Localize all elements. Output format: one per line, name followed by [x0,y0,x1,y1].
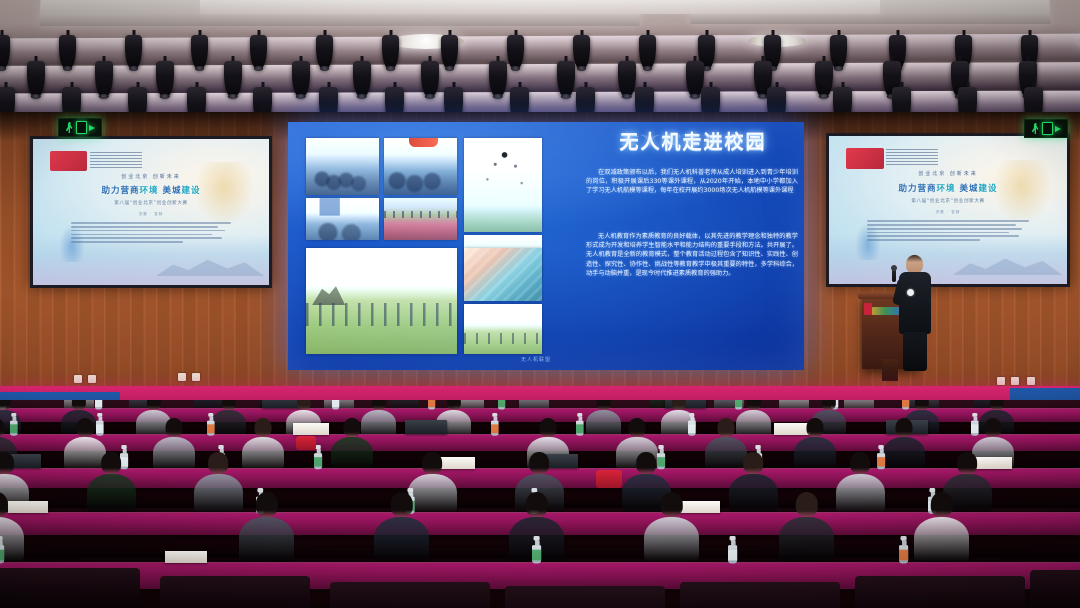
audience-member [729,452,778,513]
light-lens [129,66,139,71]
audience-shoulders [194,474,243,513]
light-lens [386,66,396,71]
audience-head [526,492,548,517]
bottle-label [0,550,4,561]
stage-light-fixture [250,30,267,70]
audience-head [661,492,683,517]
audience-head [71,400,85,410]
audience-head [958,452,978,474]
photo-classroom-screen [306,198,379,240]
right-projection-screen[interactable]: 创业北京 创新未来 助力营商环境 美城建设 第八届“创业北京”创业创新大赛 决赛… [826,133,1070,287]
bottle-cap [689,413,694,417]
audience-member [914,492,969,562]
audience-head [989,400,1003,410]
stage-light-fixture [0,30,10,70]
audience-shoulders [153,437,195,471]
audience-head [796,492,818,517]
running-person-icon [66,122,74,133]
stage-light-fixture [421,56,439,98]
slide-paragraph-1: 在双减政策颁布以后，我们无人机科普老师从成人培训进入到青少年培训的岗位，积极开展… [586,168,798,196]
stage-light-fixture [95,56,113,98]
audience-shoulders [836,474,885,513]
slide-title-reflection: 无人机走进校园 [588,132,798,148]
slide-line-1-right: 创业北京 创新未来 [829,170,1067,177]
stage-light-fixture [292,56,310,98]
light-head [27,61,45,97]
light-head [382,35,399,69]
bottle-label [428,400,435,407]
slide-line-2-prefix-left: 助力营商 [101,186,139,196]
stage-light-fixture [191,30,208,70]
stage-light-fixture [316,30,333,70]
light-head [815,61,833,97]
audience-head [446,400,460,410]
audience-shoulders [239,517,294,562]
audience-member [836,452,885,513]
bottle-cap [11,413,16,417]
bottle-neck [209,416,213,420]
exit-sign-left [58,118,102,137]
exit-sign-right [1024,119,1068,138]
slide-line-4-left: 决赛 · 答辩 [33,212,269,217]
light-lens [577,66,587,71]
stage-light-fixture [489,56,507,98]
slide-logo-text-left [90,152,142,168]
light-head [353,61,371,97]
bottle-cap [97,413,102,417]
light-lens [320,66,330,71]
door-icon [1042,122,1053,135]
light-head [557,61,575,97]
audience-head [255,418,272,437]
audience-shoulders [779,517,834,562]
wall-switch-7 [1027,377,1035,385]
audience-head [0,400,11,410]
slide-paragraph-2: 无人机教育作为素质教育的良好载体，以其先进的教学理念和独特的教学形式成为开发和培… [586,232,798,278]
slide-line-3-right: 第八届“创业北京”创业创新大赛 [829,198,1067,204]
bottle-cap [209,413,214,417]
audience-member [331,418,373,471]
audience-member [883,418,925,471]
light-head [125,35,142,69]
audience-head [530,452,550,474]
bottle-label [332,400,339,407]
audience-head [851,452,871,474]
bottle-label [532,550,541,561]
light-head [639,35,656,69]
empty-seat-back [160,576,310,608]
audience-head [629,418,646,437]
light-head [156,61,174,97]
audience-head [718,418,735,437]
audience-shoulders [794,437,836,471]
wall-switch-4 [192,373,200,381]
slide-logo-text-right [886,149,938,165]
bottle-neck [690,416,694,420]
seated-audience [0,400,1080,608]
audience-head [746,400,760,410]
audience-head [0,492,8,517]
left-slide: 创业北京 创新未来 助力营商环境 美城建设 第八届“创业北京”创业创新大赛 决赛… [33,139,269,285]
audience-member [194,452,243,513]
empty-seat-back [680,582,840,608]
audience-head [296,400,310,410]
audience-member [779,492,834,562]
stage-light-fixture [382,30,399,70]
slide-line-2-emphasis-left: 环境 [140,186,159,196]
light-lens [511,66,521,71]
audience-member [153,418,195,471]
audience-head [77,418,94,437]
light-head [95,61,113,97]
stage-light-fixture [441,30,458,70]
stage-light-fixture [156,56,174,98]
light-lens [445,66,455,71]
podium-logo-icon [864,303,872,315]
bottle-label [207,424,215,433]
slide-line-1-left: 创业北京 创新未来 [33,173,269,180]
audience-head [371,400,385,410]
light-head [618,61,636,97]
light-head [59,35,76,69]
wall-switch-5 [997,377,1005,385]
light-head [421,61,439,97]
red-bag [296,436,316,450]
photo-hands-assembly [464,248,542,301]
audience-head [637,452,657,474]
light-head [0,35,10,69]
light-lens [254,66,264,71]
stage-light-fixture [27,56,45,98]
empty-seat-back [505,586,665,608]
photo-drone-flight [464,138,542,232]
audience-head [221,400,235,410]
wall-switch-2 [88,375,96,383]
audience-shoulders [331,437,373,471]
audience-shoulders [644,517,699,562]
audience-member [374,492,429,562]
audience-head [540,418,557,437]
wall-switch-1 [74,375,82,383]
photo-large-field [306,248,457,354]
stage-light-fixture [639,30,656,70]
photo-field-activity [464,304,542,354]
bottle-cap [973,413,978,417]
photo-ceremony-banner [384,138,457,195]
audience-member [794,418,836,471]
slide-line-2-middle-left: 美城 [159,186,182,196]
right-slide: 创业北京 创新未来 助力营商环境 美城建设 第八届“创业北京”创业创新大赛 决赛… [829,136,1067,284]
slide-line-3-left: 第八届“创业北京”创业创新大赛 [33,200,269,206]
photo-classroom-students [306,138,379,195]
slide-line-2-prefix-right: 助力营商 [898,184,936,194]
audience-head [807,418,824,437]
audience-member [644,492,699,562]
presenter-legs [903,332,927,371]
audience-shoulders [87,474,136,513]
light-head [573,35,590,69]
audience-head [821,400,835,410]
light-head [191,35,208,69]
stage-light-fixture [353,56,371,98]
light-lens [643,66,653,71]
stage-light-fixture [59,30,76,70]
bottle-label [491,424,499,433]
stage-light-fixture [125,30,142,70]
stage-light-fixture [573,30,590,70]
left-projection-screen[interactable]: 创业北京 创新未来 助力营商环境 美城建设 第八届“创业北京”创业创新大赛 决赛… [30,136,272,288]
audience-head [985,418,1002,437]
running-person-icon [1032,123,1040,134]
bottle-label [576,424,584,433]
light-head [292,61,310,97]
bottle-label [899,550,908,561]
audience-shoulders [374,517,429,562]
audience-head [166,418,183,437]
audience-head [914,400,928,410]
audience-member [87,452,136,513]
stage-light-fixture [507,30,524,70]
audience-shoulders [914,517,969,562]
audience-head [102,452,122,474]
audience-member [211,400,246,439]
audience-shoulders [242,437,284,471]
bottle-cap [492,413,497,417]
slide-logo-right [846,148,884,169]
name-placard [165,551,207,563]
audience-head [344,418,361,437]
red-bag [596,470,622,488]
light-lens [195,66,205,71]
slide-line-2-left: 助力营商环境 美城建设 [33,184,269,196]
stage-light-fixture [557,56,575,98]
audience-head [931,492,953,517]
light-head [316,35,333,69]
presenter [898,255,932,371]
ceiling-coffer-center [200,0,880,14]
empty-seat-back [330,582,490,608]
arrow-right-icon [89,125,95,131]
bottle-label [95,400,102,407]
empty-seat-back [1030,570,1080,608]
center-led-wall[interactable]: 无人机走进校园 无人机走进校园 在双减政策颁布以后，我们无人机科普老师从成人培训… [288,122,804,370]
bottle-label [498,400,505,407]
audience-head [423,452,443,474]
stage-light-fixture [618,56,636,98]
slide-line-2-emphasis-right: 环境 [937,184,956,194]
empty-seat-back [855,576,1025,608]
bottle-label [688,424,696,433]
audience-shoulders [729,474,778,513]
audience-head [896,418,913,437]
audience-head [596,400,610,410]
audience-head [0,418,5,437]
photo-running-track [384,198,457,240]
bottle-neck [578,416,582,420]
slide-line-2-suffix-right: 建设 [978,184,997,194]
audience-member [239,492,294,562]
slide-logo-left [50,151,88,171]
audience-head [146,400,160,410]
slide-footer-caption: 无人机联盟 [476,356,596,363]
slide-body-lines-left [71,222,231,243]
name-placard [293,423,329,435]
laptop [405,420,447,434]
audience-head [0,452,14,474]
slide-line-4-right: 决赛 · 答辩 [829,210,1067,215]
light-lens [834,66,844,71]
presenter-badge [907,289,914,296]
auditorium-scene: 无人机走进校园 无人机走进校园 在双减政策颁布以后，我们无人机科普老师从成人培训… [0,0,1080,608]
audience-member [242,418,284,471]
wall-switch-6 [1011,377,1019,385]
slide-line-2-right: 助力营商环境 美城建设 [829,182,1067,194]
podium-base [882,359,898,381]
arrow-right-icon [1055,126,1061,132]
bottle-label [728,550,737,561]
audience-shoulders [883,437,925,471]
bottle-label [314,457,322,466]
stage-light-fixture [224,56,242,98]
slide-body-lines-right [867,220,1029,241]
slide-line-2-middle-right: 美城 [956,184,979,194]
empty-seat-back [0,568,140,608]
bottle-neck [493,416,497,420]
light-head [224,61,242,97]
light-head [250,35,267,69]
audience-head [391,492,413,517]
door-icon [76,121,87,134]
audience-head [744,452,764,474]
stage-light-fixture [815,56,833,98]
light-head [489,61,507,97]
light-head [507,35,524,69]
bottle-cap [578,413,583,417]
light-head [441,35,458,69]
wall-switch-3 [178,373,186,381]
audience-head [209,452,229,474]
audience-head [256,492,278,517]
light-lens [63,66,73,71]
handheld-microphone [892,269,896,282]
slide-line-2-suffix-left: 建设 [181,186,200,196]
audience-head [671,400,685,410]
